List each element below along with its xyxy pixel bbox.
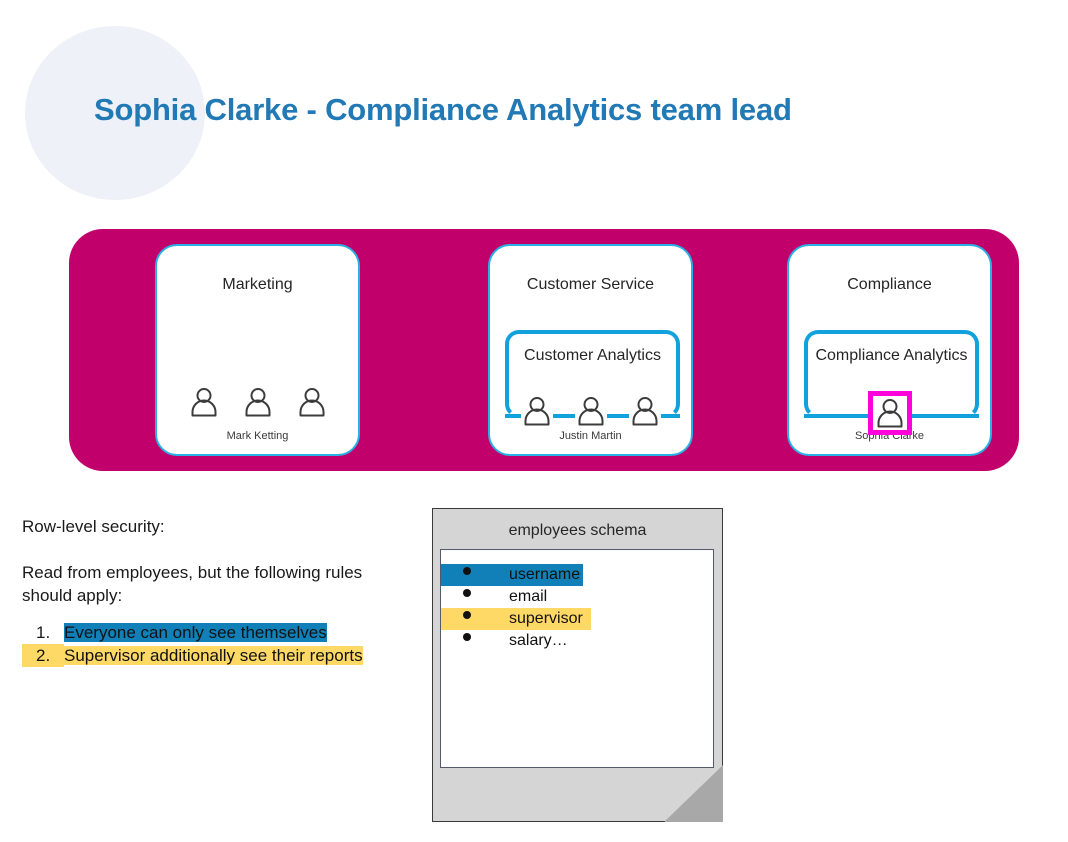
list-item: salary… xyxy=(441,630,713,652)
page-title: Sophia Clarke - Compliance Analytics tea… xyxy=(94,92,792,128)
schema-field-panel: username email supervisor salary… xyxy=(440,549,714,768)
person-icon xyxy=(188,386,220,418)
schema-field-name: username xyxy=(509,564,580,586)
dept-card-compliance[interactable]: Compliance Compliance Analytics Sophia C… xyxy=(787,244,992,456)
org-chart-panel: Marketing Mark Ketting xyxy=(69,229,1019,471)
rule-text: Supervisor additionally see their report… xyxy=(64,644,364,667)
rule-number: 1. xyxy=(22,621,64,644)
schema-field-list: username email supervisor salary… xyxy=(441,564,713,652)
rule-number: 2. xyxy=(22,644,64,667)
dept-card-marketing[interactable]: Marketing Mark Ketting xyxy=(155,244,360,456)
bullet-icon xyxy=(463,611,471,619)
schema-document[interactable]: employees schema username email supervis… xyxy=(432,508,723,822)
row-level-security-block: Row-level security: Read from employees,… xyxy=(22,515,412,667)
rls-heading: Row-level security: xyxy=(22,515,412,538)
rule-text-highlight: Supervisor additionally see their report… xyxy=(64,646,363,665)
schema-field-name: salary… xyxy=(509,630,568,652)
bullet-icon xyxy=(463,567,471,575)
person-icon xyxy=(521,395,553,427)
bullet-icon xyxy=(463,633,471,641)
subteam-label: Customer Analytics xyxy=(509,346,676,366)
list-item: 1. Everyone can only see themselves xyxy=(22,621,412,644)
rules-list: 1. Everyone can only see themselves 2. S… xyxy=(22,621,412,667)
list-item: username xyxy=(441,564,583,586)
list-item: 2. Supervisor additionally see their rep… xyxy=(22,644,412,667)
dept-card-customer-service[interactable]: Customer Service Customer Analytics xyxy=(488,244,693,456)
dept-person-label: Mark Ketting xyxy=(157,430,358,442)
person-icon xyxy=(242,386,274,418)
schema-title: employees schema xyxy=(432,522,723,540)
rule-text: Everyone can only see themselves xyxy=(64,621,364,644)
rls-intro: Read from employees, but the following r… xyxy=(22,561,412,607)
dept-title: Compliance xyxy=(789,276,990,294)
person-icon xyxy=(296,386,328,418)
person-icon-highlighted[interactable] xyxy=(868,391,912,435)
subteam-label: Compliance Analytics xyxy=(808,346,975,366)
rule-text-highlight: Everyone can only see themselves xyxy=(64,623,327,642)
spacer xyxy=(22,538,412,561)
schema-field-name: supervisor xyxy=(509,608,583,630)
schema-field-name: email xyxy=(509,586,547,608)
dept-title: Customer Service xyxy=(490,276,691,294)
person-icon xyxy=(629,395,661,427)
people-row xyxy=(157,386,358,418)
list-item: supervisor xyxy=(441,608,591,630)
person-icon xyxy=(575,395,607,427)
bullet-icon xyxy=(463,589,471,597)
dept-person-label: Justin Martin xyxy=(490,430,691,442)
list-item: email xyxy=(441,586,713,608)
dept-title: Marketing xyxy=(157,276,358,294)
